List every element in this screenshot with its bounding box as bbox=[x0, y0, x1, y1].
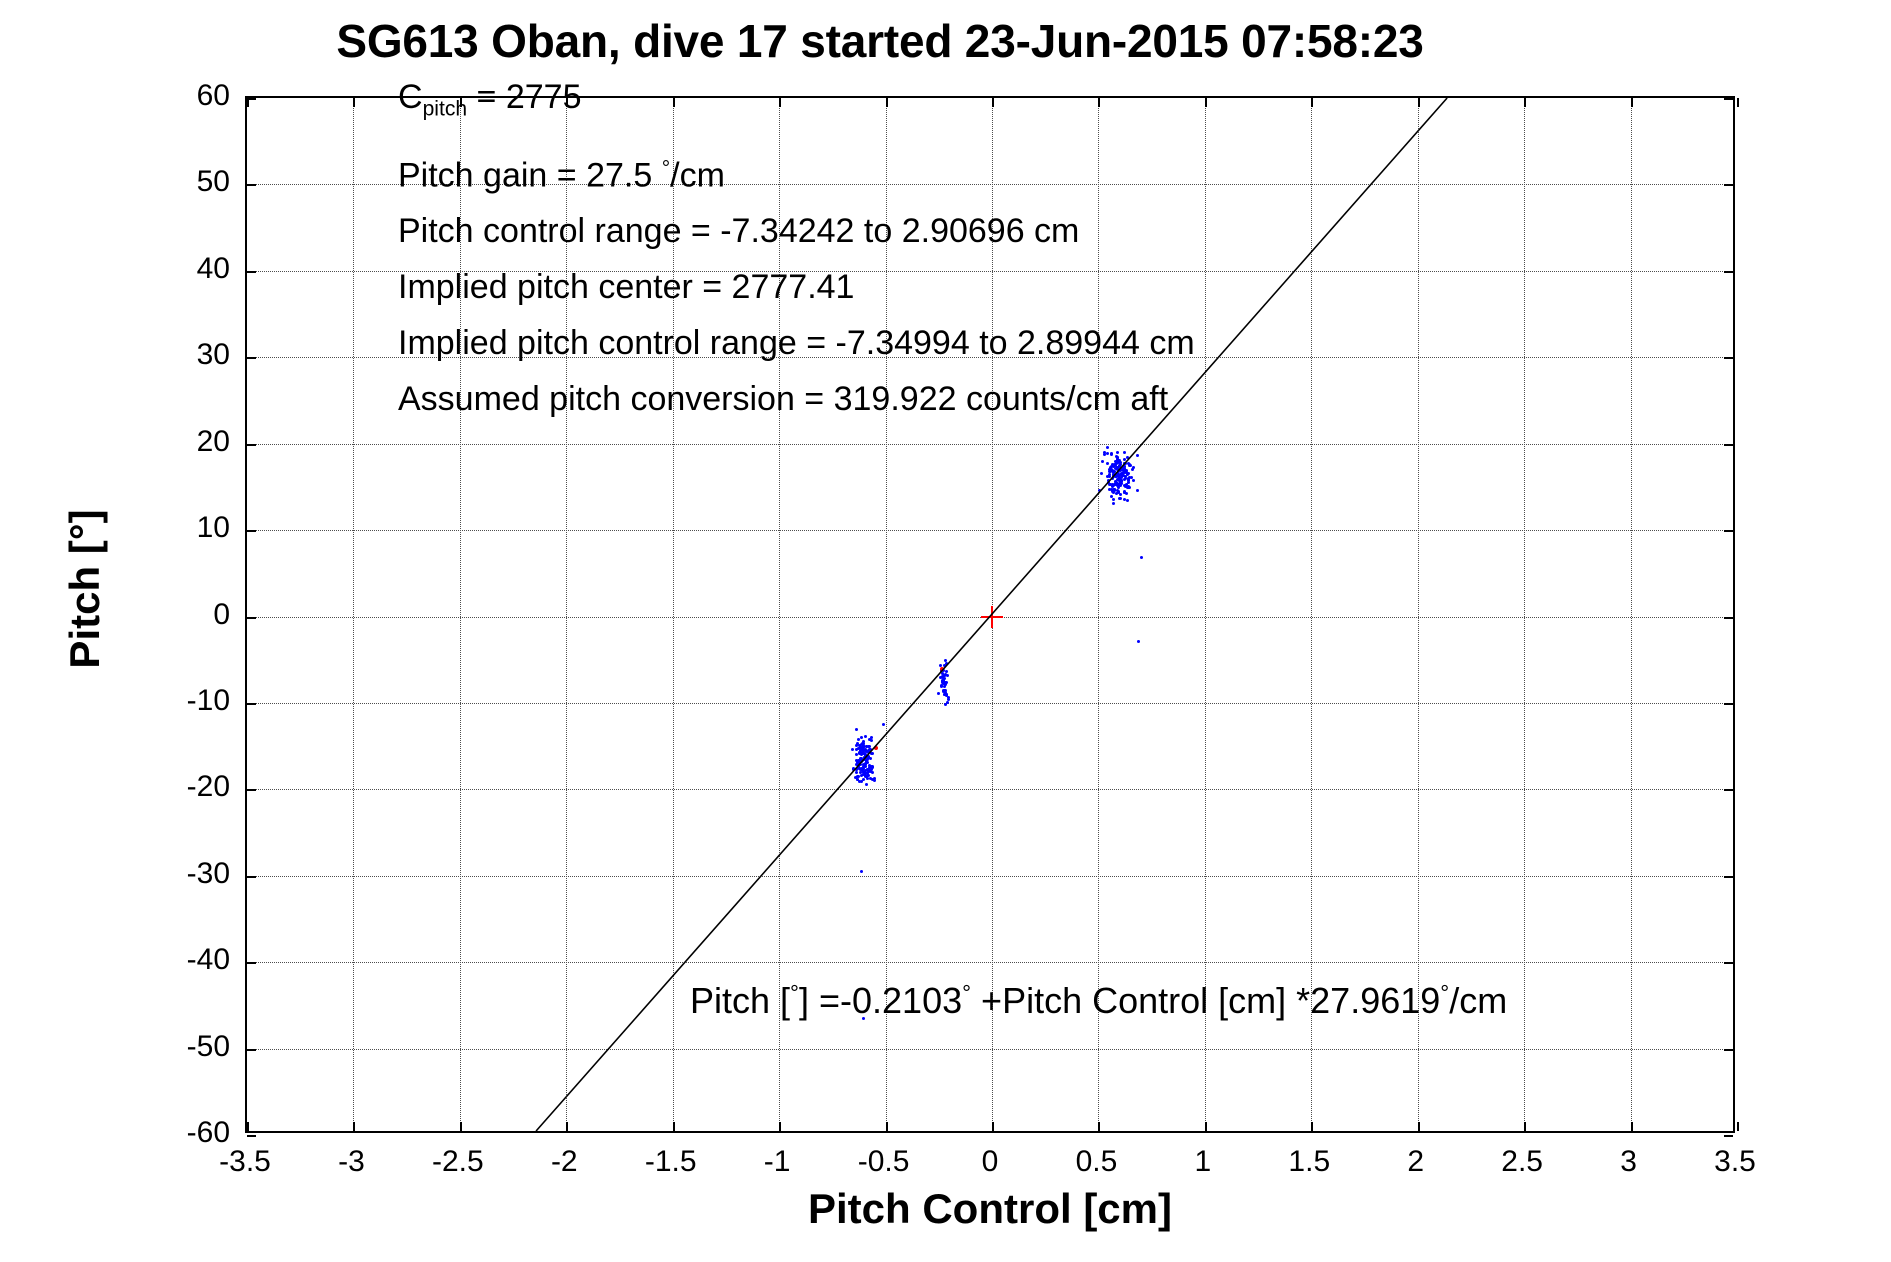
eq-part-2: ] =-0.2103 bbox=[799, 980, 962, 1021]
x-axis-tick-top bbox=[1737, 98, 1739, 107]
y-tick-label: -10 bbox=[125, 684, 230, 718]
c-pitch-value: = 2775 bbox=[467, 78, 581, 116]
annotation-pitch-control-range: Pitch control range = -7.34242 to 2.9069… bbox=[398, 214, 1079, 248]
c-pitch-subscript: pitch bbox=[423, 97, 468, 120]
y-tick-label: 50 bbox=[125, 165, 230, 199]
y-tick-label: 60 bbox=[125, 79, 230, 113]
y-tick-label: 10 bbox=[125, 511, 230, 545]
y-tick-label: 0 bbox=[125, 598, 230, 632]
eq-part-4: /cm bbox=[1449, 980, 1507, 1021]
y-axis-tick bbox=[247, 1135, 256, 1137]
y-tick-label: -40 bbox=[125, 943, 230, 977]
y-tick-label: 20 bbox=[125, 425, 230, 459]
annotation-c-pitch: Cpitch = 2775 bbox=[398, 80, 581, 119]
x-tick-label: 2 bbox=[1407, 1145, 1424, 1179]
x-tick-label: 0 bbox=[982, 1145, 999, 1179]
x-tick-label: 1 bbox=[1195, 1145, 1212, 1179]
matlab-figure: SG613 Oban, dive 17 started 23-Jun-2015 … bbox=[0, 0, 1891, 1262]
x-tick-label: 2.5 bbox=[1501, 1145, 1543, 1179]
x-tick-label: -3 bbox=[338, 1145, 365, 1179]
x-tick-label: -1 bbox=[764, 1145, 791, 1179]
annotation-implied-pitch-center: Implied pitch center = 2777.41 bbox=[398, 270, 854, 304]
x-tick-label: -1.5 bbox=[645, 1145, 697, 1179]
x-tick-label: 1.5 bbox=[1288, 1145, 1330, 1179]
eq-part-3: +Pitch Control [cm] *27.9619 bbox=[971, 980, 1440, 1021]
y-tick-label: -60 bbox=[125, 1116, 230, 1150]
x-tick-label: -2 bbox=[551, 1145, 578, 1179]
plot-axes bbox=[245, 96, 1735, 1133]
y-tick-label: -20 bbox=[125, 770, 230, 804]
x-axis-label: Pitch Control [cm] bbox=[245, 1185, 1735, 1233]
degree-symbol-eq2: ° bbox=[962, 981, 971, 1006]
degree-symbol-eq1: ° bbox=[790, 981, 799, 1006]
y-tick-label: -30 bbox=[125, 857, 230, 891]
x-tick-label: 3 bbox=[1620, 1145, 1637, 1179]
c-pitch-symbol: C bbox=[398, 78, 423, 116]
x-tick-label: 3.5 bbox=[1714, 1145, 1756, 1179]
y-tick-label: 40 bbox=[125, 252, 230, 286]
pitch-gain-unit: /cm bbox=[670, 157, 725, 195]
x-axis-tick bbox=[1737, 1122, 1739, 1131]
annotation-assumed-pitch-conversion: Assumed pitch conversion = 319.922 count… bbox=[398, 382, 1168, 416]
annotation-pitch-gain: Pitch gain = 27.5 °/cm bbox=[398, 158, 725, 193]
x-tick-label: -3.5 bbox=[219, 1145, 271, 1179]
pitch-gain-text: Pitch gain = 27.5 bbox=[398, 157, 662, 195]
page-title: SG613 Oban, dive 17 started 23-Jun-2015 … bbox=[0, 14, 1760, 68]
x-tick-label: -2.5 bbox=[432, 1145, 484, 1179]
y-tick-label: -50 bbox=[125, 1030, 230, 1064]
x-tick-label: -0.5 bbox=[858, 1145, 910, 1179]
y-axis-tick-right bbox=[1724, 1135, 1733, 1137]
y-axis-label: Pitch [°] bbox=[61, 329, 109, 849]
fit-line bbox=[247, 98, 1733, 1131]
degree-symbol: ° bbox=[662, 157, 670, 180]
y-tick-label: 30 bbox=[125, 338, 230, 372]
annotation-fit-equation: Pitch [°] =-0.2103° +Pitch Control [cm] … bbox=[690, 980, 1507, 1022]
annotation-implied-pitch-control-range: Implied pitch control range = -7.34994 t… bbox=[398, 326, 1195, 360]
degree-symbol-eq3: ° bbox=[1440, 981, 1449, 1006]
eq-part-1: Pitch [ bbox=[690, 980, 790, 1021]
x-tick-label: 0.5 bbox=[1076, 1145, 1118, 1179]
